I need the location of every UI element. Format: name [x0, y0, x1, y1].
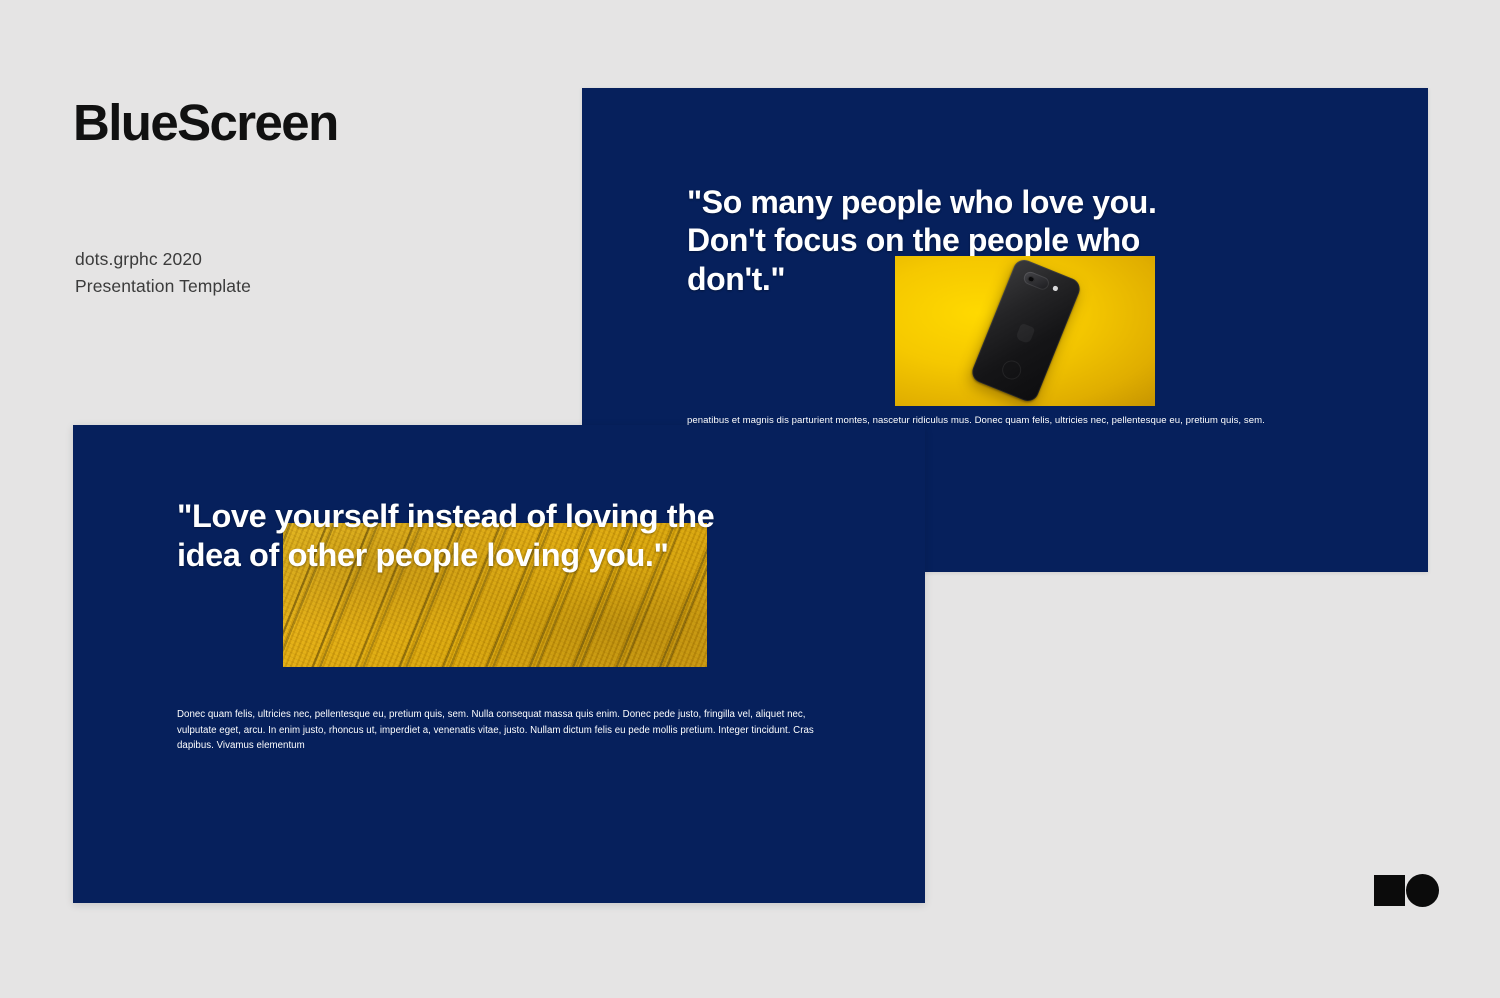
- phone-camera-icon: [1022, 270, 1051, 292]
- slide-top-quote-line1: "So many people who love you.: [687, 183, 1247, 221]
- brand-subtitle-line1: dots.grphc 2020: [75, 246, 251, 273]
- slide-bottom-quote: "Love yourself instead of loving the ide…: [177, 497, 817, 575]
- slide-bottom-body: Donec quam felis, ultricies nec, pellent…: [177, 707, 819, 754]
- slide-top-quote-line2: Don't focus on the people who: [687, 221, 1247, 259]
- slide-bottom-quote-line2: idea of other people loving you.": [177, 536, 817, 575]
- phone-ring-icon: [999, 357, 1024, 382]
- slide-bottom-quote-line1: "Love yourself instead of loving the: [177, 497, 817, 536]
- slide-bottom[interactable]: "Love yourself instead of loving the ide…: [73, 425, 925, 903]
- square-icon: [1374, 875, 1405, 906]
- brand-subtitle-line2: Presentation Template: [75, 273, 251, 300]
- phone-flash-icon: [1052, 285, 1058, 291]
- phone-photo: [895, 256, 1155, 406]
- phone-device-icon: [969, 257, 1083, 405]
- phone-logo-icon: [1015, 323, 1035, 344]
- page-title: BlueScreen: [73, 96, 338, 150]
- presentation-mockup: BlueScreen dots.grphc 2020 Presentation …: [0, 0, 1500, 998]
- brand-subtitle: dots.grphc 2020 Presentation Template: [75, 246, 251, 299]
- circle-icon: [1406, 874, 1439, 907]
